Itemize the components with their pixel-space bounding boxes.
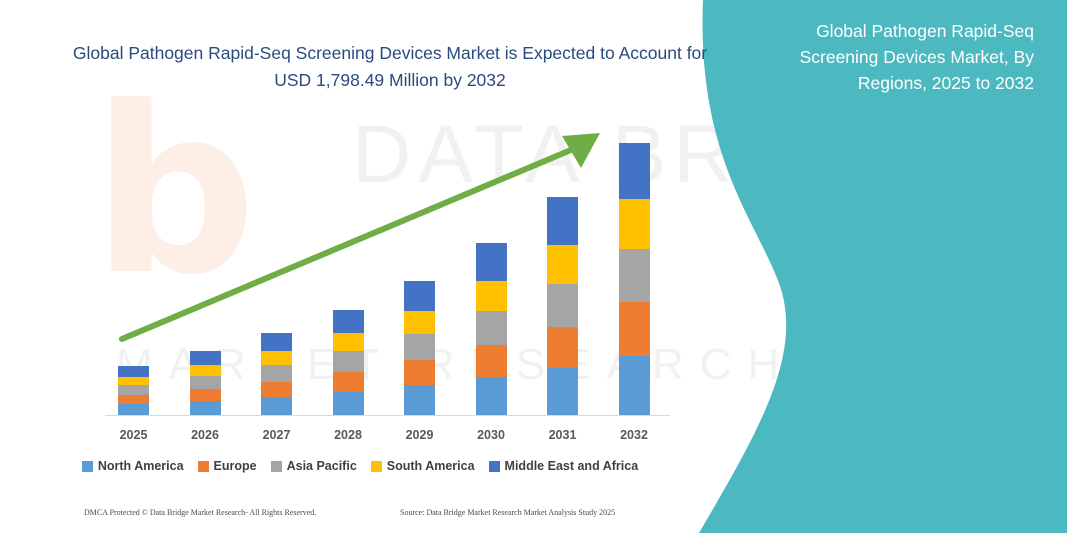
legend-swatch-icon <box>271 461 282 472</box>
legend-item-south-america[interactable]: South America <box>371 459 475 473</box>
panel-title: Global Pathogen Rapid-Seq Screening Devi… <box>786 18 1034 96</box>
footer-copyright: DMCA Protected © Data Bridge Market Rese… <box>84 508 316 517</box>
x-axis-label-2030: 2030 <box>461 428 521 442</box>
bar-segment-north-america <box>404 385 435 415</box>
bar-2028 <box>333 310 364 415</box>
bar-segment-middle-east-and-africa <box>118 366 149 377</box>
bar-segment-south-america <box>547 245 578 285</box>
legend-label: North America <box>98 459 184 473</box>
bar-segment-asia-pacific <box>404 334 435 360</box>
bar-segment-asia-pacific <box>619 249 650 301</box>
x-axis-label-2029: 2029 <box>390 428 450 442</box>
bar-segment-south-america <box>190 365 221 376</box>
bar-segment-south-america <box>333 333 364 351</box>
x-axis-label-2032: 2032 <box>604 428 664 442</box>
bar-segment-middle-east-and-africa <box>404 281 435 311</box>
x-axis-label-2028: 2028 <box>318 428 378 442</box>
x-axis-label-2027: 2027 <box>247 428 307 442</box>
x-axis-label-2031: 2031 <box>533 428 593 442</box>
bar-2027 <box>261 333 292 415</box>
bar-segment-south-america <box>118 377 149 385</box>
legend-label: South America <box>387 459 475 473</box>
bar-segment-middle-east-and-africa <box>476 243 507 281</box>
page-title: Global Pathogen Rapid-Seq Screening Devi… <box>60 40 720 94</box>
legend-item-middle-east-and-africa[interactable]: Middle East and Africa <box>489 459 639 473</box>
bar-segment-south-america <box>404 311 435 334</box>
chart-legend: North AmericaEuropeAsia PacificSouth Ame… <box>0 459 720 473</box>
bar-segment-europe <box>476 345 507 377</box>
bar-segment-europe <box>619 302 650 356</box>
bar-segment-north-america <box>476 377 507 415</box>
bar-segment-europe <box>547 327 578 368</box>
legend-label: Middle East and Africa <box>505 459 639 473</box>
x-axis-label-2026: 2026 <box>175 428 235 442</box>
bar-segment-middle-east-and-africa <box>190 351 221 365</box>
bar-2031 <box>547 197 578 415</box>
bar-segment-middle-east-and-africa <box>333 310 364 333</box>
legend-swatch-icon <box>371 461 382 472</box>
bar-segment-asia-pacific <box>190 376 221 389</box>
legend-item-europe[interactable]: Europe <box>198 459 257 473</box>
bar-segment-north-america <box>333 392 364 415</box>
bar-segment-north-america <box>547 368 578 415</box>
bar-segment-asia-pacific <box>476 311 507 344</box>
bar-segment-north-america <box>261 397 292 415</box>
bar-segment-asia-pacific <box>118 385 149 395</box>
bar-segment-asia-pacific <box>333 351 364 372</box>
bar-2029 <box>404 281 435 415</box>
bar-2026 <box>190 351 221 415</box>
legend-item-asia-pacific[interactable]: Asia Pacific <box>271 459 357 473</box>
bar-segment-north-america <box>118 404 149 415</box>
bar-segment-middle-east-and-africa <box>619 143 650 199</box>
bar-segment-south-america <box>261 351 292 365</box>
legend-swatch-icon <box>489 461 500 472</box>
bar-segment-middle-east-and-africa <box>261 333 292 351</box>
bar-segment-asia-pacific <box>261 365 292 381</box>
bar-segment-asia-pacific <box>547 284 578 326</box>
legend-swatch-icon <box>198 461 209 472</box>
bar-segment-south-america <box>619 199 650 249</box>
bar-segment-europe <box>333 372 364 392</box>
right-panel-content: Global Pathogen Rapid-Seq Screening Devi… <box>667 0 1067 533</box>
x-axis-label-2025: 2025 <box>104 428 164 442</box>
bar-segment-europe <box>404 360 435 385</box>
bar-segment-south-america <box>476 281 507 312</box>
bar-segment-europe <box>261 382 292 397</box>
chart-baseline <box>105 415 670 416</box>
bar-2030 <box>476 243 507 415</box>
legend-label: Asia Pacific <box>287 459 357 473</box>
legend-swatch-icon <box>82 461 93 472</box>
bar-segment-north-america <box>190 401 221 415</box>
legend-label: Europe <box>214 459 257 473</box>
bar-2025 <box>118 366 149 415</box>
footer-source: Source: Data Bridge Market Research Mark… <box>400 508 615 517</box>
bar-2032 <box>619 143 650 415</box>
bar-segment-europe <box>118 395 149 404</box>
bar-segment-north-america <box>619 356 650 415</box>
legend-item-north-america[interactable]: North America <box>82 459 184 473</box>
bar-segment-europe <box>190 389 221 401</box>
bar-segment-middle-east-and-africa <box>547 197 578 245</box>
